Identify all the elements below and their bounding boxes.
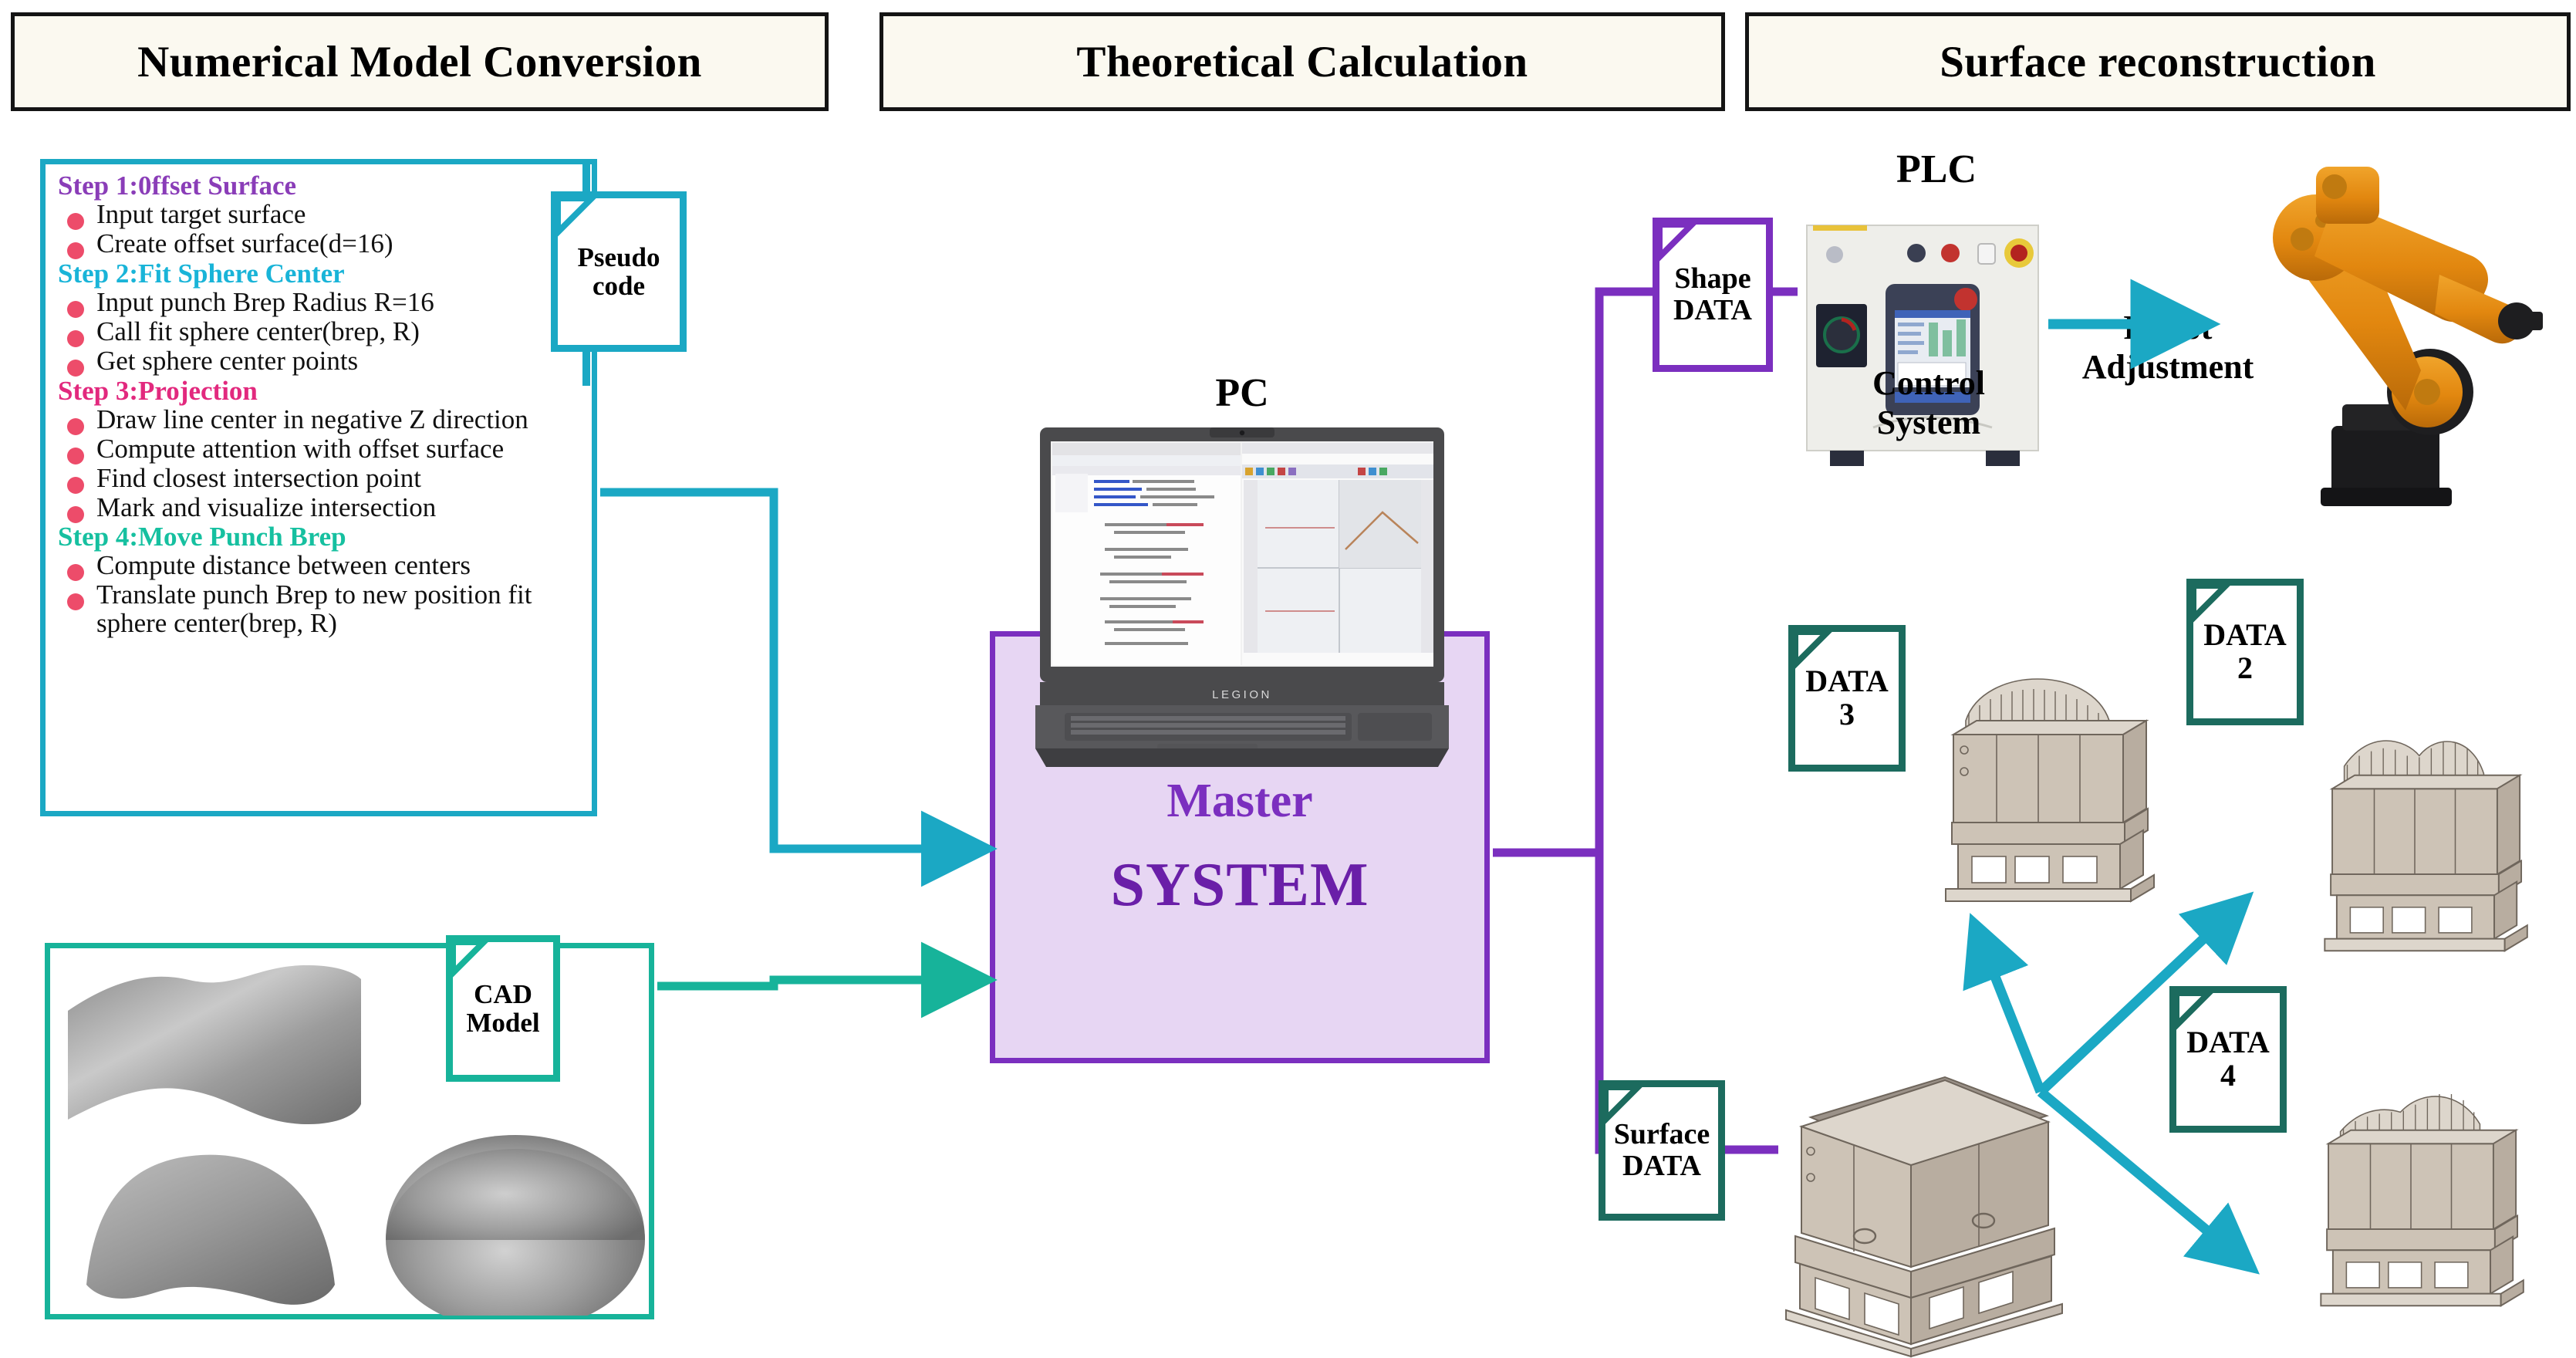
list-item: Get sphere center points <box>58 347 582 376</box>
data-2-tag: DATA 2 <box>2186 579 2304 725</box>
folded-corner-icon <box>1794 630 1834 671</box>
master-label-line2: SYSTEM <box>1111 850 1369 921</box>
master-label-line1: Master <box>1166 774 1312 829</box>
cad-surface-illustrations <box>54 953 656 1316</box>
pseudo-code-tag-line2: code <box>593 272 645 300</box>
step-3-title: Step 3:Projection <box>58 377 582 405</box>
folded-corner-icon <box>451 941 490 979</box>
list-item: Create offset surface(d=16) <box>58 230 582 258</box>
robot-adjustment-line1: Robot <box>2052 309 2284 348</box>
data-4-tag-line2: 4 <box>2220 1059 2236 1093</box>
reconfigurable-die-source <box>1724 1026 2087 1358</box>
shape-data-tag-line2: DATA <box>1673 295 1752 326</box>
list-item: Call fit sphere center(brep, R) <box>58 318 582 346</box>
header-surface-reconstruction: Surface reconstruction <box>1745 12 2571 111</box>
control-system-line2: System <box>1821 404 2037 443</box>
curved-sheet-shape <box>86 1155 335 1305</box>
list-item: Input target surface <box>58 201 582 229</box>
step-1-title: Step 1:0ffset Surface <box>58 172 582 200</box>
pseudocode-steps-panel: Step 1:0ffset Surface Input target surfa… <box>40 159 597 816</box>
data-4-tag: DATA 4 <box>2169 986 2287 1133</box>
list-item: Compute distance between centers <box>58 552 582 580</box>
step-2-bullets: Input punch Brep Radius R=16 Call fit sp… <box>58 289 582 376</box>
cad-model-tag-line1: CAD <box>474 980 532 1008</box>
robot-adjustment-line2: Adjustment <box>2052 348 2284 387</box>
header-middle-label: Theoretical Calculation <box>1076 37 1528 87</box>
list-item: Find closest intersection point <box>58 464 582 493</box>
control-system-line1: Control <box>1821 364 2037 404</box>
data-3-tag: DATA 3 <box>1788 625 1906 772</box>
reconfigurable-die-dome <box>1892 630 2185 907</box>
surface-data-tag: Surface DATA <box>1599 1080 1725 1221</box>
step-4-title: Step 4:Move Punch Brep <box>58 523 582 551</box>
folded-corner-icon <box>1604 1086 1644 1126</box>
header-theoretical-calculation: Theoretical Calculation <box>879 12 1725 111</box>
step-1-bullets: Input target surface Create offset surfa… <box>58 201 582 258</box>
folded-corner-icon <box>1658 223 1698 263</box>
header-numerical-model-conversion: Numerical Model Conversion <box>11 12 829 111</box>
laptop-illustration: LEGION <box>1034 426 1450 773</box>
robot-adjustment-label: Robot Adjustment <box>2052 309 2284 387</box>
pseudo-code-tag: Pseudo code <box>551 191 687 352</box>
surface-data-tag-line2: DATA <box>1622 1150 1701 1182</box>
list-item: Mark and visualize intersection <box>58 494 582 522</box>
reconfigurable-die-top-right <box>2272 687 2557 957</box>
step-3-bullets: Draw line center in negative Z direction… <box>58 406 582 522</box>
shape-data-tag-line1: Shape <box>1674 263 1751 295</box>
step-2-title: Step 2:Fit Sphere Center <box>58 260 582 288</box>
cad-model-tag: CAD Model <box>446 935 560 1082</box>
header-left-label: Numerical Model Conversion <box>137 37 702 87</box>
header-right-label: Surface reconstruction <box>1940 37 2376 87</box>
step-4-bullets: Compute distance between centers Transla… <box>58 552 582 638</box>
list-item: Draw line center in negative Z direction <box>58 406 582 434</box>
folded-corner-icon <box>2192 584 2232 624</box>
svg-text:LEGION: LEGION <box>1212 688 1272 701</box>
wavy-surface-shape <box>68 965 361 1124</box>
folded-corner-icon <box>2175 991 2215 1032</box>
cad-model-tag-line2: Model <box>466 1008 539 1037</box>
pc-label: PC <box>1165 370 1319 416</box>
data-2-tag-line2: 2 <box>2237 652 2253 685</box>
plc-label: PLC <box>1844 147 2029 192</box>
pseudo-code-tag-line1: Pseudo <box>578 243 660 272</box>
folded-corner-icon <box>556 197 598 238</box>
list-item: Compute attention with offset surface <box>58 435 582 464</box>
data-3-tag-line2: 3 <box>1839 698 1855 731</box>
list-item: Translate punch Brep to new position fit… <box>58 581 582 638</box>
control-system-label: Control System <box>1821 364 2037 442</box>
list-item: Input punch Brep Radius R=16 <box>58 289 582 317</box>
shape-data-tag: Shape DATA <box>1653 218 1773 372</box>
reconfigurable-die-bottom-right <box>2268 1042 2554 1312</box>
